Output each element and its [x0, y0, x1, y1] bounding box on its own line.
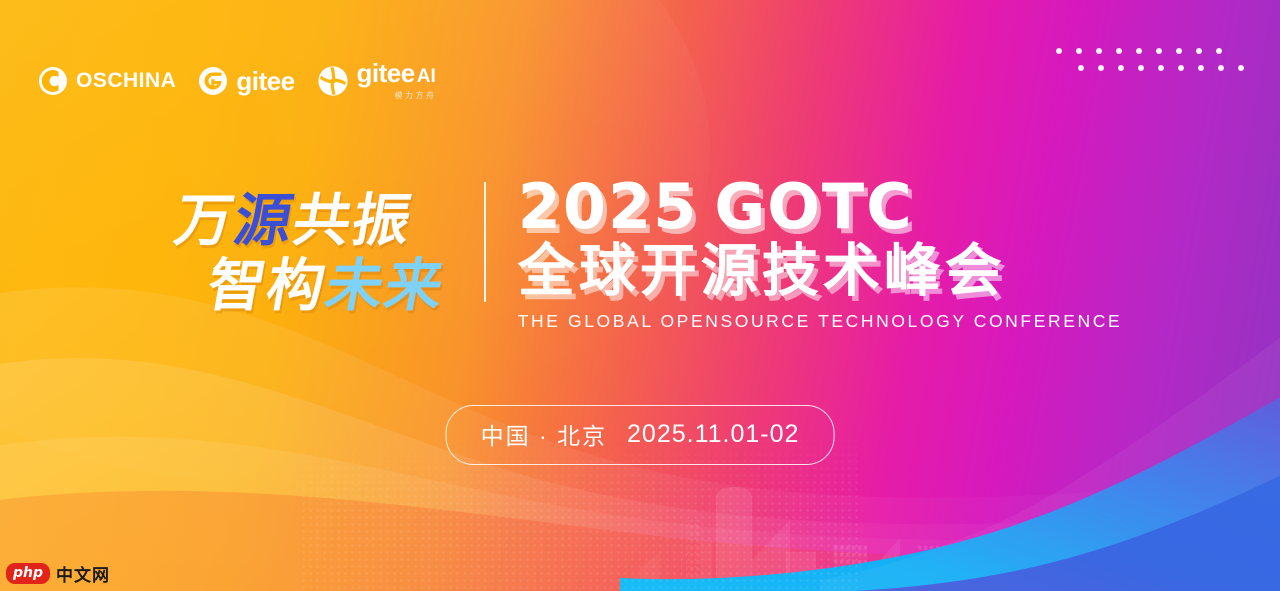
title-block: 万源共振 智构未来 2025GOTC 全球开源技术峰会 THE GLOBAL O… — [0, 176, 1280, 332]
logo-gitee[interactable]: gitee — [198, 66, 294, 96]
dots-row-2 — [1078, 65, 1244, 71]
gitee-label: gitee — [236, 68, 294, 94]
location-label: 中国 · 北京 — [481, 417, 607, 451]
title-chinese: 全球开源技术峰会 — [518, 242, 1123, 302]
decorative-dot — [1078, 65, 1084, 71]
gitee-ai-logo-icon — [317, 65, 349, 97]
php-badge-icon: php — [6, 563, 50, 584]
title-english: THE GLOBAL OPENSOURCE TECHNOLOGY CONFERE… — [518, 311, 1123, 332]
conference-banner: OSCHINA gitee — [0, 0, 1280, 591]
partner-logo-row: OSCHINA gitee — [38, 60, 437, 101]
gitee-ai-subtitle: 模力方舟 — [395, 90, 437, 101]
slogan-line-2: 智构未来 — [147, 256, 450, 317]
logo-oschina[interactable]: OSCHINA — [38, 66, 176, 96]
slogan-line-1: 万源共振 — [158, 191, 461, 252]
decorative-dot — [1216, 48, 1222, 54]
decorative-dot — [1198, 65, 1204, 71]
decorative-dot — [1176, 48, 1182, 54]
watermark: php 中文网 — [6, 561, 110, 586]
decorative-dot — [1138, 65, 1144, 71]
decorative-dot — [1156, 48, 1162, 54]
decorative-dot — [1178, 65, 1184, 71]
dots-decoration — [1056, 48, 1244, 71]
oschina-label: OSCHINA — [76, 70, 176, 91]
decorative-dot — [1116, 48, 1122, 54]
slogan-chars-gongzhen: 共振 — [288, 188, 418, 254]
gitee-ai-suffix: AI — [417, 66, 436, 88]
decorative-dot — [1136, 48, 1142, 54]
decorative-dot — [1218, 65, 1224, 71]
decorative-dot — [1096, 48, 1102, 54]
dots-row-1 — [1056, 48, 1244, 54]
logo-gitee-ai[interactable]: gitee AI 模力方舟 — [317, 60, 437, 101]
date-label: 2025.11.01-02 — [627, 420, 799, 449]
decorative-dot — [1118, 65, 1124, 71]
gitee-logo-icon — [198, 66, 228, 96]
decorative-dot — [1098, 65, 1104, 71]
decorative-dot — [1196, 48, 1202, 54]
gitee-ai-label: gitee — [357, 60, 415, 86]
main-title: 2025GOTC 全球开源技术峰会 THE GLOBAL OPENSOURCE … — [486, 176, 1123, 332]
decorative-dot — [1238, 65, 1244, 71]
decorative-dot — [1056, 48, 1062, 54]
slogan: 万源共振 智构未来 — [144, 176, 497, 332]
title-acronym: GOTC — [714, 170, 913, 243]
watermark-label: 中文网 — [56, 561, 110, 586]
oschina-logo-icon — [38, 66, 68, 96]
date-location-pill[interactable]: 中国 · 北京 2025.11.01-02 — [446, 405, 835, 465]
decorative-dot — [1076, 48, 1082, 54]
slogan-chars-zhigou: 智构 — [202, 253, 332, 319]
title-year-acronym: 2025GOTC — [518, 176, 1123, 238]
decorative-dot — [1158, 65, 1164, 71]
title-year: 2025 — [518, 170, 699, 243]
slogan-chars-weilai: 未来 — [320, 253, 450, 319]
